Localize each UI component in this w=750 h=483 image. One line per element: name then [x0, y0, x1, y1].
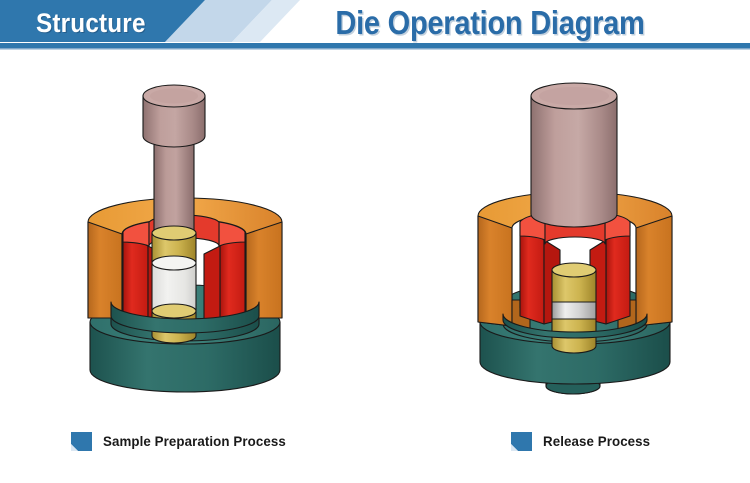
- page-title: Die Operation Diagram: [279, 2, 701, 44]
- caption-release: Release Process: [511, 430, 656, 452]
- header-underline-bar-soft: [0, 48, 750, 50]
- punch-head: [143, 85, 205, 147]
- caption-sample-preparation: Sample Preparation Process: [71, 430, 295, 452]
- page-header: Structure Die Operation Diagram: [0, 0, 750, 52]
- blue-notched-square-icon: [511, 432, 532, 451]
- die-diagram-sample-preparation: [78, 74, 293, 414]
- header-badge-label: Structure: [36, 5, 146, 41]
- pressed-pellet-stack: [552, 263, 596, 353]
- punch-rod: [531, 83, 617, 227]
- blue-notched-square-icon: [71, 432, 92, 451]
- caption-label: Sample Preparation Process: [103, 433, 286, 449]
- caption-label: Release Process: [543, 433, 650, 449]
- die-diagram-release: [468, 74, 683, 414]
- content-stage: Sample Preparation Process Release Proce…: [0, 52, 750, 483]
